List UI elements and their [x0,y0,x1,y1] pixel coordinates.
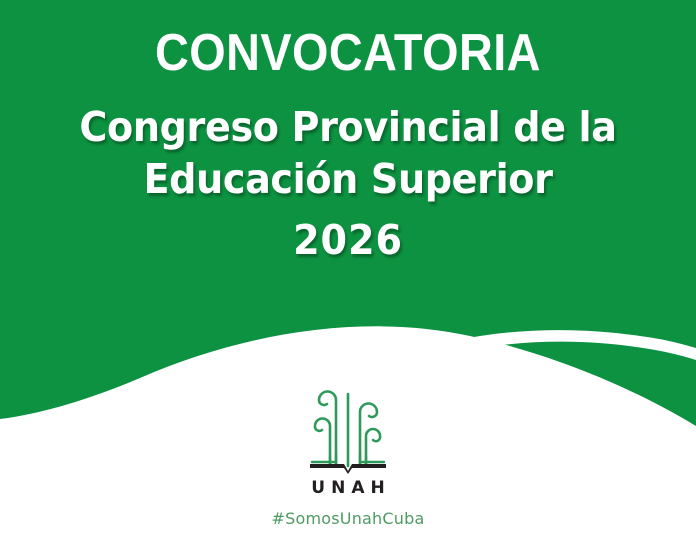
unah-wordmark: UNAH [0,480,696,497]
subtitle-line-1: Congreso Provincial de la [24,101,671,153]
event-year: 2026 [24,206,671,266]
unah-fern-book-icon [302,374,394,476]
subtitle-line-2: Educación Superior [24,153,671,205]
poster-canvas: CONVOCATORIA Congreso Provincial de la E… [0,0,696,548]
page-title: CONVOCATORIA [35,0,661,81]
poster-text-block: CONVOCATORIA Congreso Provincial de la E… [0,0,696,266]
poster-subtitle: Congreso Provincial de la Educación Supe… [24,81,671,266]
unah-logo-block: UNAH #SomosUnahCuba [0,374,696,527]
hashtag-somosunahcuba: #SomosUnahCuba [0,511,696,527]
